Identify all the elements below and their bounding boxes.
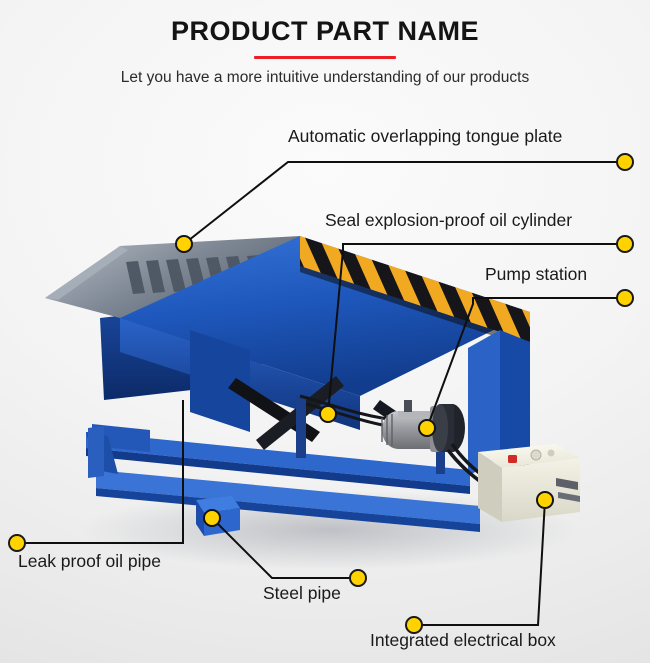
integrated-electrical-box bbox=[478, 444, 580, 522]
callout-label-integrated-electrical-box[interactable]: Integrated electrical box bbox=[370, 632, 556, 650]
callout-label-leak-proof-oil-pipe[interactable]: Leak proof oil pipe bbox=[18, 553, 161, 571]
left-frame-post bbox=[88, 426, 104, 478]
anchor-dot-pump-station bbox=[419, 420, 435, 436]
callout-dot-tongue-plate bbox=[617, 154, 633, 170]
anchor-dot-oil-cylinder bbox=[320, 406, 336, 422]
anchor-dot-integrated-electrical-box bbox=[537, 492, 553, 508]
anchor-dot-steel-pipe bbox=[204, 510, 220, 526]
callout-dot-steel-pipe bbox=[350, 570, 366, 586]
callout-dot-leak-proof-oil-pipe bbox=[9, 535, 25, 551]
callout-dot-pump-station bbox=[617, 290, 633, 306]
callout-label-pump-station[interactable]: Pump station bbox=[485, 266, 587, 284]
title-underline-rule bbox=[254, 56, 396, 59]
callout-dot-oil-cylinder bbox=[617, 236, 633, 252]
control-box-red-button bbox=[508, 455, 517, 463]
callout-label-steel-pipe[interactable]: Steel pipe bbox=[263, 585, 341, 603]
product-diagram-page: PRODUCT PART NAME Let you have a more in… bbox=[0, 0, 650, 663]
header: PRODUCT PART NAME Let you have a more in… bbox=[0, 0, 650, 87]
page-title: PRODUCT PART NAME bbox=[0, 0, 650, 47]
callout-label-tongue-plate[interactable]: Automatic overlapping tongue plate bbox=[288, 128, 562, 146]
anchor-dot-tongue-plate bbox=[176, 236, 192, 252]
callout-label-oil-cylinder[interactable]: Seal explosion-proof oil cylinder bbox=[325, 212, 572, 230]
page-subtitle: Let you have a more intuitive understand… bbox=[0, 69, 650, 87]
